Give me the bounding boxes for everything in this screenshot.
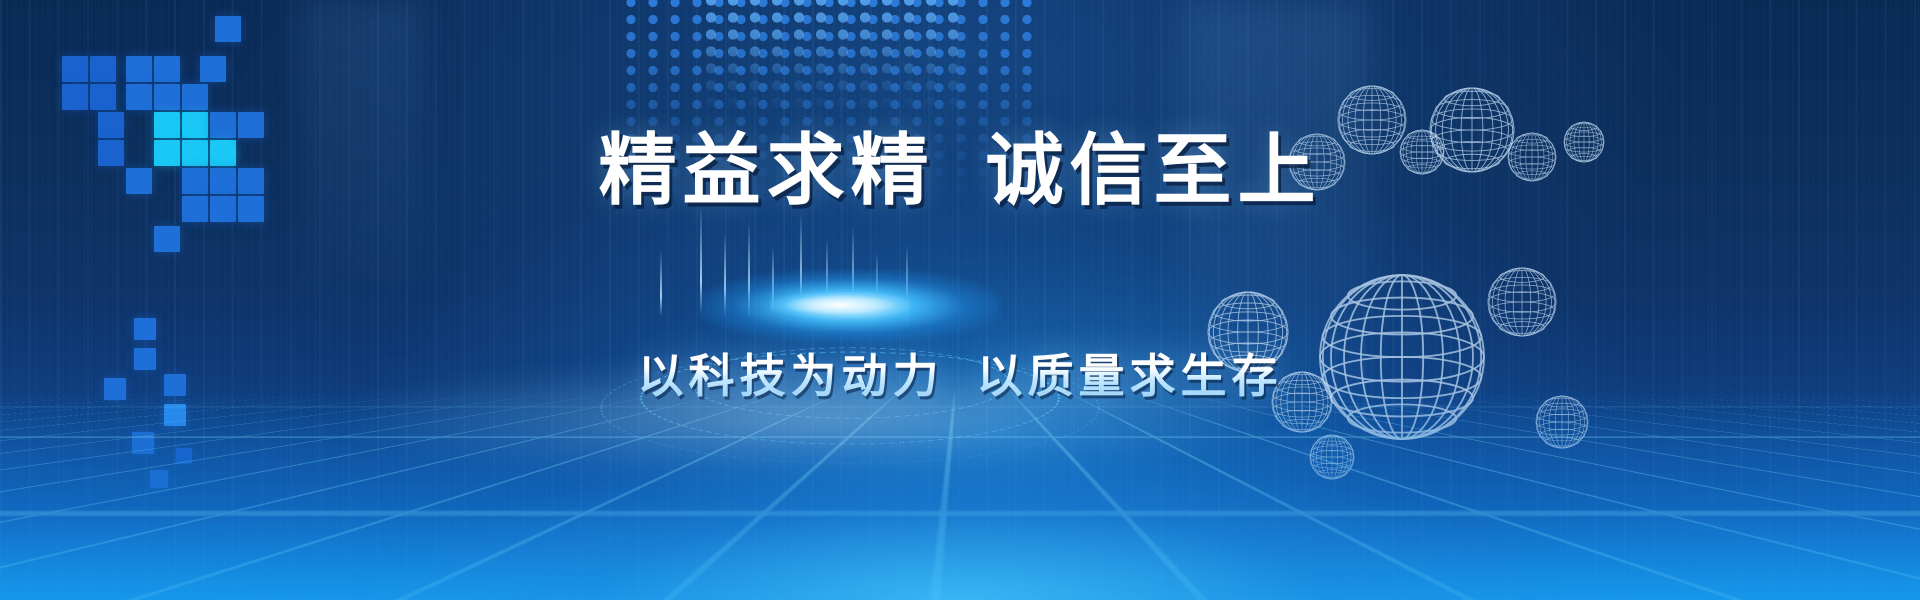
pixel-square	[126, 84, 152, 110]
halftone-dot-matrix-bright	[700, 0, 960, 112]
light-bar	[660, 250, 662, 316]
pixel-square	[200, 56, 226, 82]
wireframe-globe	[1486, 266, 1558, 338]
glow-core-hot	[770, 292, 910, 318]
pixel-square	[134, 318, 156, 340]
banner-subline: 以科技为动力 以质量求生存	[0, 340, 1920, 406]
pixel-square	[215, 16, 241, 42]
pixel-square	[62, 56, 88, 82]
pixel-square	[90, 56, 116, 82]
pixel-square	[182, 84, 208, 110]
pixel-square	[154, 226, 180, 252]
pixel-square	[126, 56, 152, 82]
pixel-square	[62, 84, 88, 110]
hero-banner: 精益求精 诚信至上 以科技为动力 以质量求生存	[0, 0, 1920, 600]
banner-headline: 精益求精 诚信至上	[0, 108, 1920, 220]
pixel-square	[154, 56, 180, 82]
pixel-square	[154, 84, 180, 110]
pixel-square	[90, 84, 116, 110]
